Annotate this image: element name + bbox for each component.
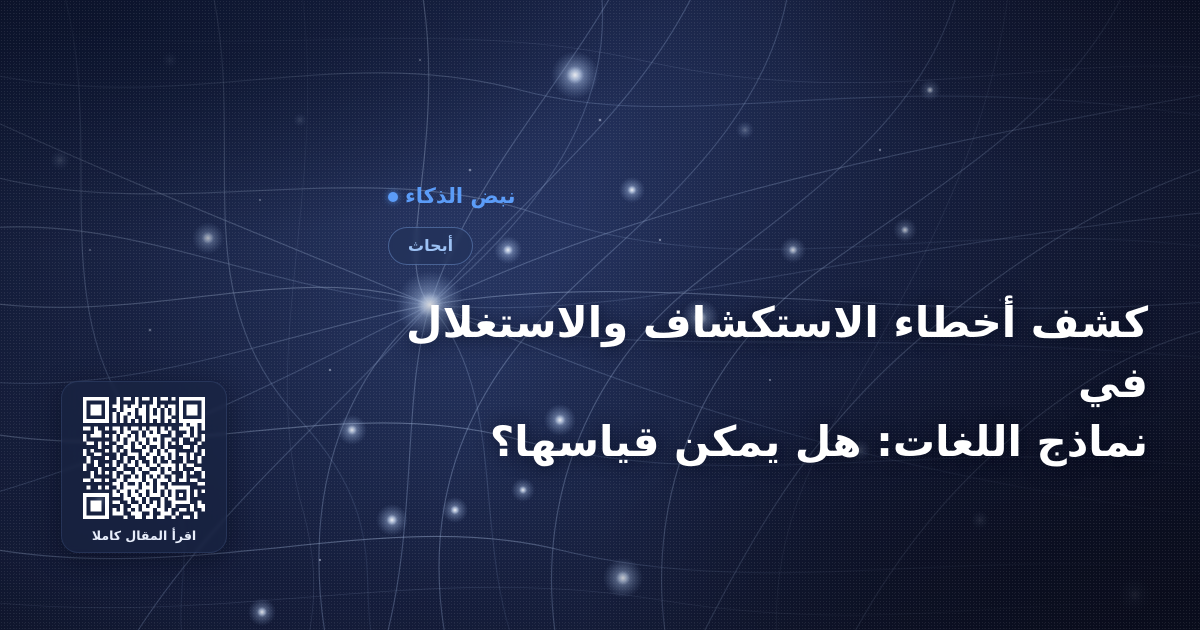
content-column: نبض الذكاء أبحاث كشف أخطاء الاستكشاف وال… — [388, 186, 1148, 500]
qr-card[interactable]: اقرأ المقال كاملا — [61, 381, 227, 553]
page-title-line-2: نماذج اللغات: هل يمكن قياسها؟ — [388, 412, 1148, 472]
brand-name: نبض الذكاء — [405, 186, 515, 207]
qr-caption: اقرأ المقال كاملا — [92, 528, 196, 543]
qr-code-icon — [83, 397, 205, 519]
category-badge[interactable]: أبحاث — [388, 227, 473, 265]
brand: نبض الذكاء — [388, 186, 1148, 207]
page-title-line-1: كشف أخطاء الاستكشاف والاستغلال في — [388, 293, 1148, 412]
category-row: أبحاث — [388, 227, 1148, 265]
social-share-card: نبض الذكاء أبحاث كشف أخطاء الاستكشاف وال… — [0, 0, 1200, 630]
bullet-dot-icon — [388, 192, 398, 202]
page-title: كشف أخطاء الاستكشاف والاستغلال في نماذج … — [388, 293, 1148, 472]
